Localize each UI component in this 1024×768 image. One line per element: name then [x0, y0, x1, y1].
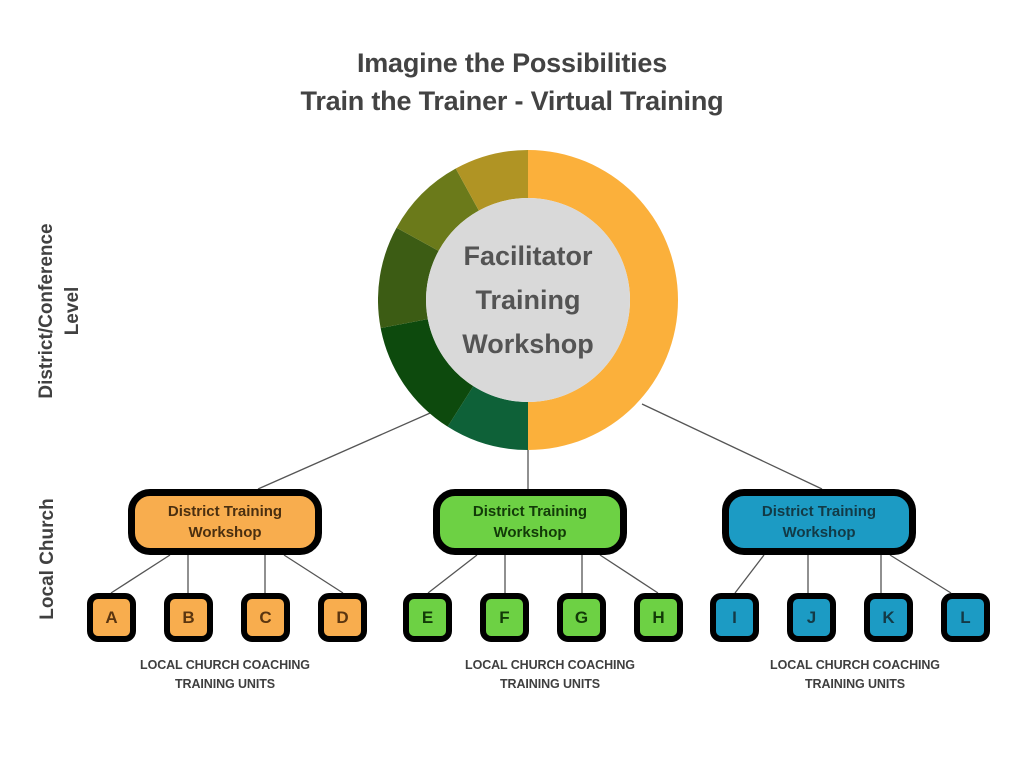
district-box-label-line-2: Workshop	[782, 522, 855, 543]
district-box-label-line-1: District Training	[762, 501, 876, 522]
unit-box-label: L	[960, 608, 970, 628]
unit-box-f[interactable]: F	[480, 593, 529, 642]
unit-box-label: K	[882, 608, 894, 628]
unit-box-a[interactable]: A	[87, 593, 136, 642]
unit-box-label: E	[422, 608, 433, 628]
center-label-line-1: Facilitator	[463, 234, 592, 278]
unit-box-i[interactable]: I	[710, 593, 759, 642]
group-caption-blue: LOCAL CHURCH COACHING TRAINING UNITS	[710, 656, 1000, 694]
district-box-label-line-1: District Training	[168, 501, 282, 522]
unit-box-label: C	[259, 608, 271, 628]
district-box-label-line-1: District Training	[473, 501, 587, 522]
unit-box-e[interactable]: E	[403, 593, 452, 642]
district-training-workshop-box-blue[interactable]: District Training Workshop	[722, 489, 916, 555]
unit-box-d[interactable]: D	[318, 593, 367, 642]
unit-box-label: A	[105, 608, 117, 628]
unit-box-j[interactable]: J	[787, 593, 836, 642]
district-training-workshop-box-green[interactable]: District Training Workshop	[433, 489, 627, 555]
connector-district-2-to-unit-3	[890, 555, 951, 593]
unit-box-label: G	[575, 608, 588, 628]
caption-line-2: TRAINING UNITS	[80, 675, 370, 694]
unit-box-c[interactable]: C	[241, 593, 290, 642]
unit-box-k[interactable]: K	[864, 593, 913, 642]
center-label-line-2: Training	[475, 278, 580, 322]
group-caption-orange: LOCAL CHURCH COACHING TRAINING UNITS	[80, 656, 370, 694]
unit-box-b[interactable]: B	[164, 593, 213, 642]
connector-district-0-to-unit-0	[111, 555, 170, 593]
caption-line-2: TRAINING UNITS	[405, 675, 695, 694]
donut-center-label: Facilitator Training Workshop	[426, 198, 630, 402]
connector-district-0-to-unit-3	[284, 555, 343, 593]
unit-box-label: H	[652, 608, 664, 628]
caption-line-1: LOCAL CHURCH COACHING	[80, 656, 370, 675]
unit-box-label: F	[499, 608, 509, 628]
unit-box-label: I	[732, 608, 737, 628]
unit-box-label: B	[182, 608, 194, 628]
caption-line-2: TRAINING UNITS	[710, 675, 1000, 694]
caption-line-1: LOCAL CHURCH COACHING	[710, 656, 1000, 675]
district-box-label-line-2: Workshop	[493, 522, 566, 543]
facilitator-donut-chart: Facilitator Training Workshop	[378, 150, 678, 450]
unit-box-label: J	[807, 608, 816, 628]
district-training-workshop-box-orange[interactable]: District Training Workshop	[128, 489, 322, 555]
connector-district-1-to-unit-3	[600, 555, 658, 593]
unit-box-h[interactable]: H	[634, 593, 683, 642]
district-box-label-line-2: Workshop	[188, 522, 261, 543]
unit-box-g[interactable]: G	[557, 593, 606, 642]
group-caption-green: LOCAL CHURCH COACHING TRAINING UNITS	[405, 656, 695, 694]
center-label-line-3: Workshop	[462, 322, 594, 366]
connector-district-1-to-unit-0	[428, 555, 477, 593]
unit-box-l[interactable]: L	[941, 593, 990, 642]
connector-district-2-to-unit-0	[735, 555, 764, 593]
caption-line-1: LOCAL CHURCH COACHING	[405, 656, 695, 675]
unit-box-label: D	[336, 608, 348, 628]
